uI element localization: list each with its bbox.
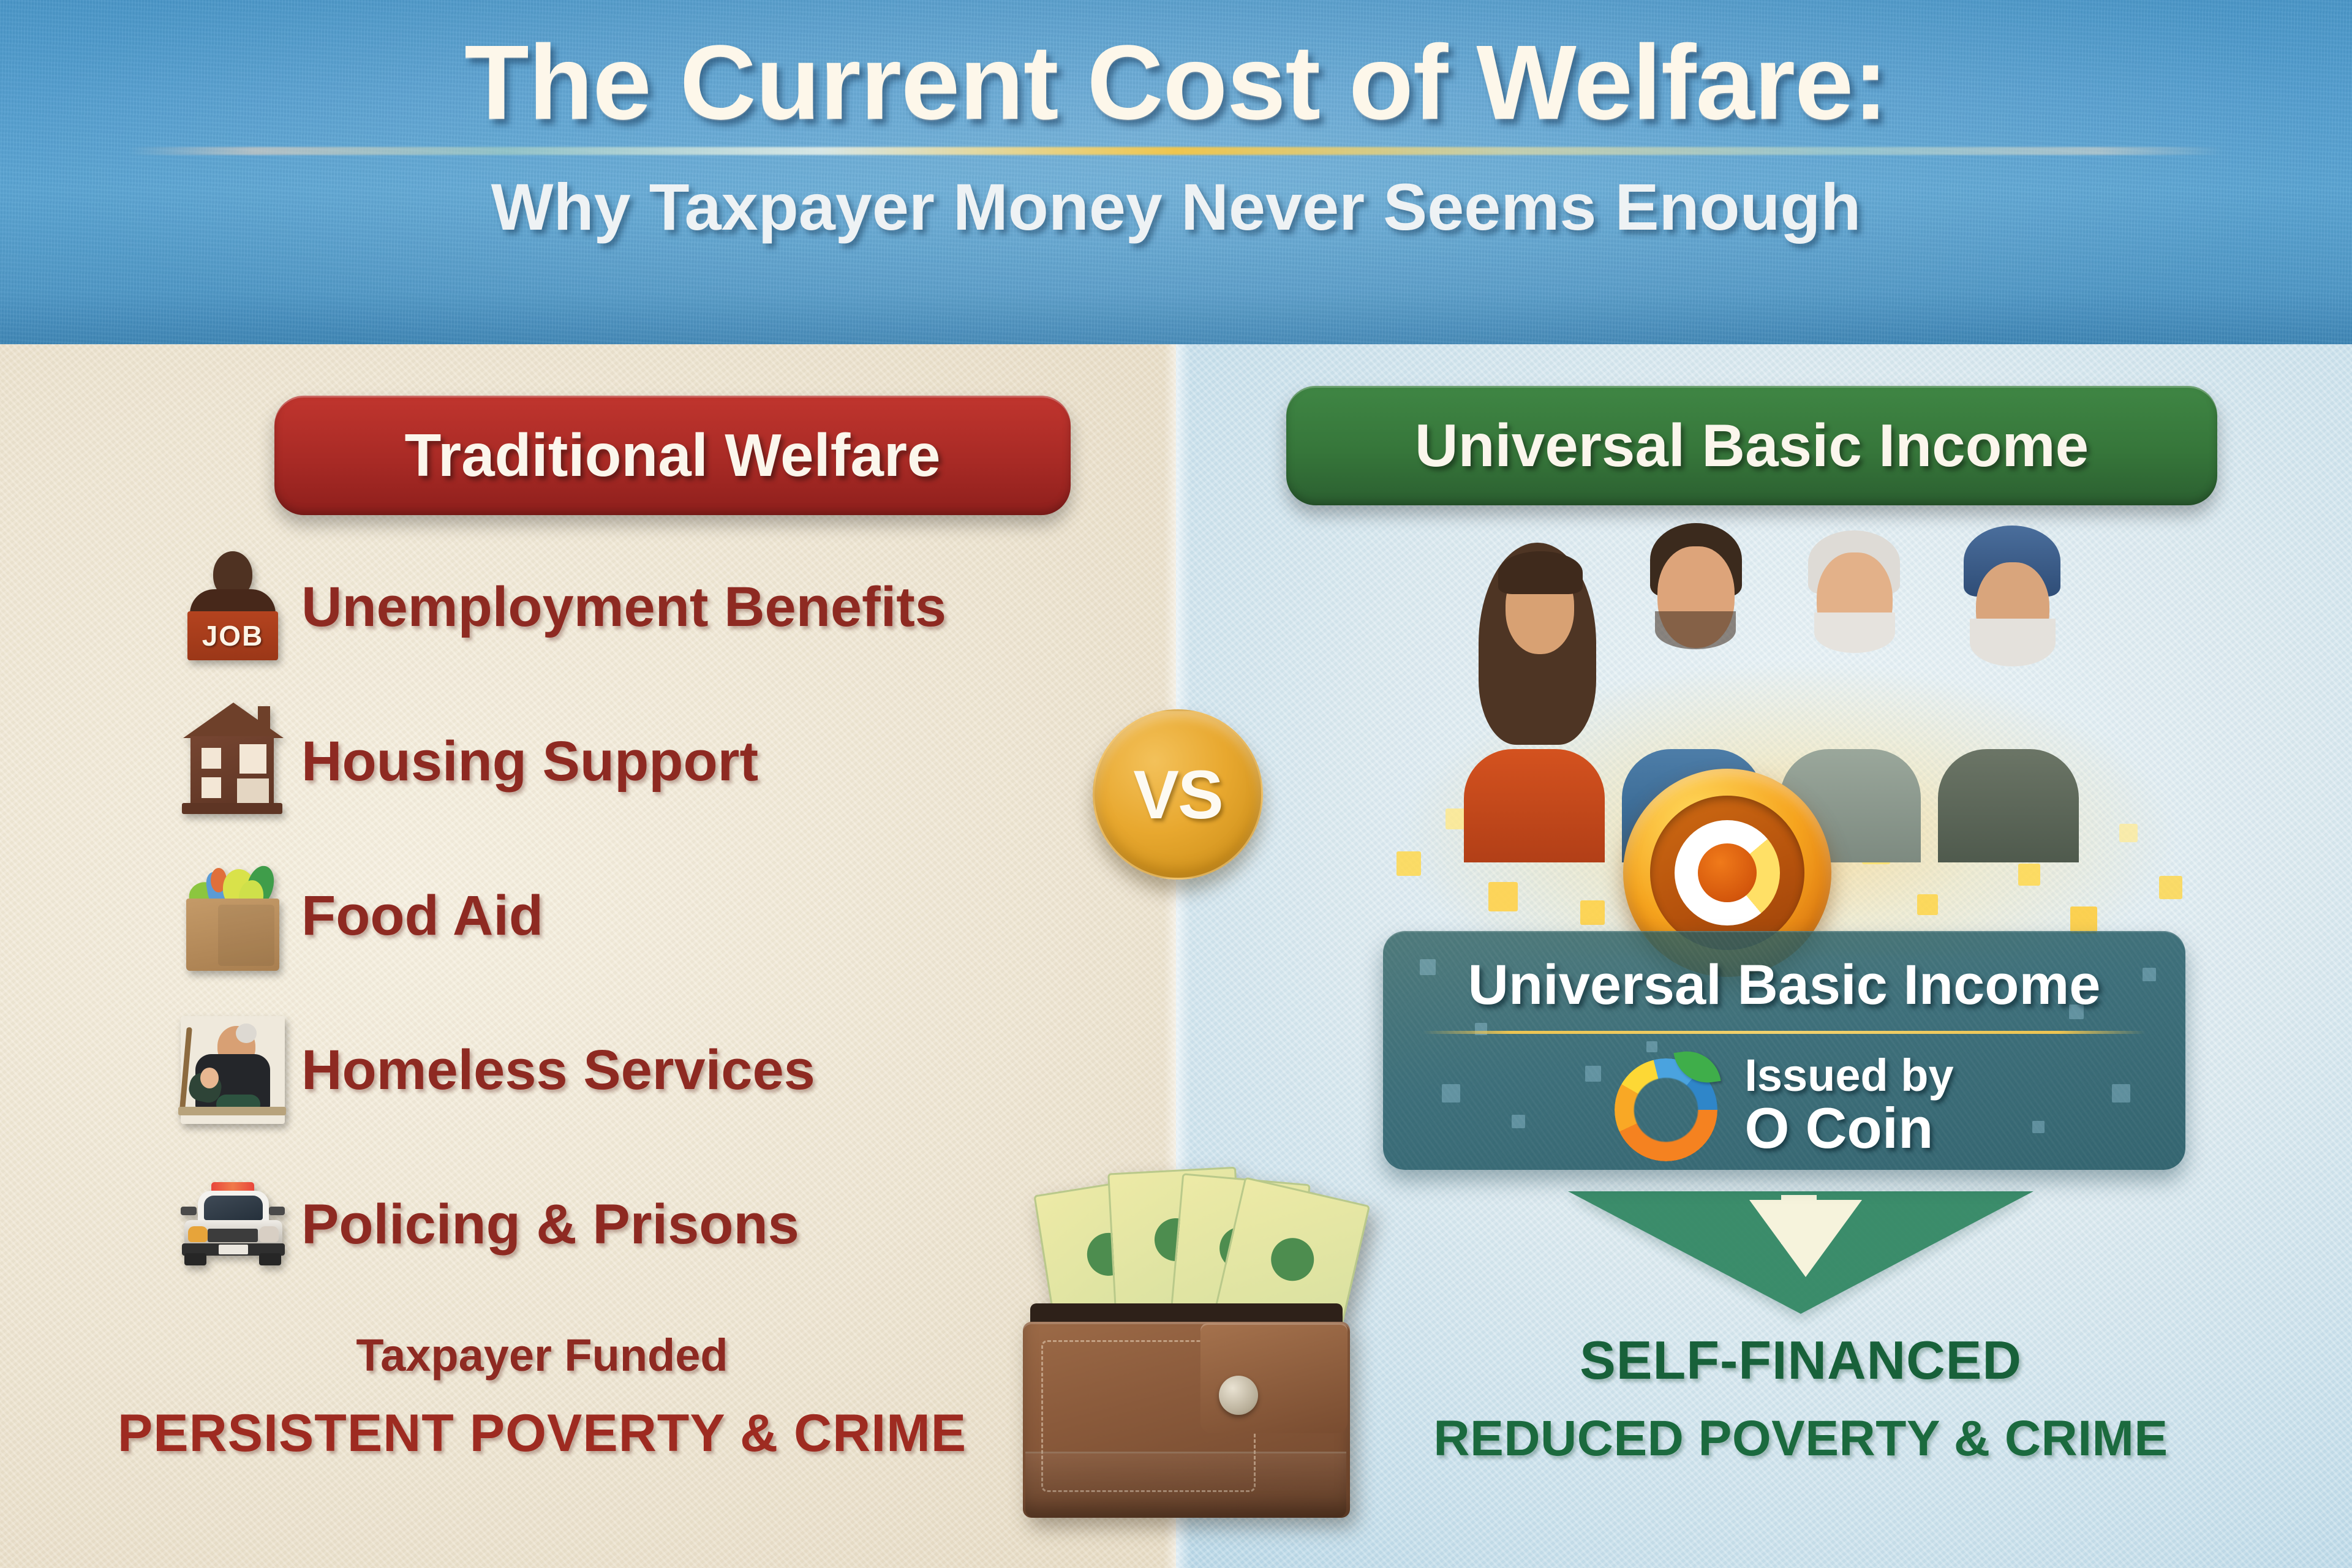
list-item-label: Food Aid [301, 884, 543, 948]
title-divider-rule [129, 147, 2223, 155]
wallet-with-cash-icon [1017, 1164, 1366, 1531]
list-item: Food Aid [171, 839, 1127, 993]
universal-basic-income-label: Universal Basic Income [1415, 411, 2089, 480]
traditional-welfare-heading: Traditional Welfare [274, 396, 1071, 515]
header-banner: The Current Cost of Welfare: Why Taxpaye… [0, 0, 2352, 344]
homeless-person-icon [171, 1016, 294, 1124]
ubi-card-divider [1423, 1031, 2146, 1034]
list-item: Policing & Prisons [171, 1147, 1127, 1302]
wallet-snap-button [1219, 1376, 1258, 1415]
universal-basic-income-heading: Universal Basic Income [1286, 386, 2217, 505]
ubi-card-title: Universal Basic Income [1383, 953, 2185, 1017]
page-subtitle: Why Taxpayer Money Never Seems Enough [0, 168, 2352, 245]
person-older-man-with-cap [1932, 519, 2085, 862]
issued-by-label: Issued by [1744, 1052, 1953, 1098]
list-item: Housing Support [171, 684, 1127, 839]
issued-by-row: Issued by O Coin [1383, 1050, 2185, 1161]
list-item: JOB Unemployment Benefits [171, 530, 1127, 684]
left-panel-outcome: Taxpayer Funded PERSISTENT POVERTY & CRI… [80, 1329, 1005, 1464]
grocery-bag-icon [171, 861, 294, 971]
persistent-poverty-label: PERSISTENT POVERTY & CRIME [80, 1403, 1005, 1464]
vs-label: VS [1133, 755, 1222, 834]
police-car-icon [171, 1182, 294, 1267]
welfare-programs-list: JOB Unemployment Benefits Housing Suppor… [171, 530, 1127, 1302]
down-arrow-icon [1568, 1191, 2034, 1332]
person-woman [1458, 519, 1611, 862]
list-item-label: Housing Support [301, 729, 758, 794]
job-sign-label: JOB [187, 611, 278, 660]
taxpayer-funded-label: Taxpayer Funded [80, 1329, 1005, 1381]
vs-badge: VS [1093, 709, 1263, 880]
list-item-label: Policing & Prisons [301, 1193, 799, 1257]
o-coin-logo-icon [1615, 1050, 1726, 1161]
list-item-label: Unemployment Benefits [301, 575, 946, 639]
house-icon [171, 703, 294, 820]
ubi-issuance-card: Universal Basic Income Issued by O Coin [1383, 931, 2185, 1170]
right-panel-outcome: SELF-FINANCED REDUCED POVERTY & CRIME [1341, 1329, 2260, 1468]
page-title: The Current Cost of Welfare: [0, 28, 2352, 136]
list-item-label: Homeless Services [301, 1038, 815, 1102]
job-person-icon: JOB [171, 551, 294, 663]
traditional-welfare-label: Traditional Welfare [405, 421, 941, 490]
list-item: Homeless Services [171, 993, 1127, 1147]
self-financed-label: SELF-FINANCED [1341, 1329, 2260, 1392]
issuer-name-label: O Coin [1744, 1098, 1953, 1159]
reduced-poverty-label: REDUCED POVERTY & CRIME [1341, 1410, 2260, 1468]
